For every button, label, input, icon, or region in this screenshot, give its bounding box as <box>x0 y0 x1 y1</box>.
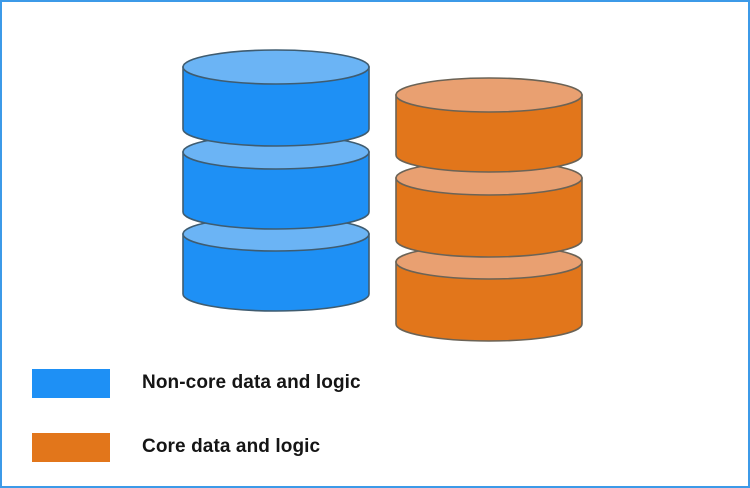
legend-label-non-core: Non-core data and logic <box>142 372 361 394</box>
core-cylinder-segment-2 <box>396 161 582 257</box>
legend-item-non-core[interactable]: Non-core data and logic <box>32 368 452 398</box>
non-core-cylinder-segment-1 <box>183 50 369 146</box>
legend-item-core[interactable]: Core data and logic <box>32 432 452 462</box>
legend: Non-core data and logic Core data and lo… <box>32 368 452 488</box>
core-cylinder-segment-1 <box>396 78 582 172</box>
non-core-cylinder-segment-3 <box>183 217 369 311</box>
legend-swatch-core <box>32 433 110 462</box>
diagram-canvas: Non-core data and logic Core data and lo… <box>2 2 750 488</box>
non-core-cylinder-segment-2 <box>183 135 369 229</box>
non-core-stack[interactable] <box>182 47 382 327</box>
legend-label-core: Core data and logic <box>142 436 320 458</box>
core-stack[interactable] <box>395 75 595 355</box>
diagram-slide: Non-core data and logic Core data and lo… <box>0 0 750 488</box>
legend-swatch-non-core <box>32 369 110 398</box>
core-cylinder-segment-3 <box>396 245 582 341</box>
